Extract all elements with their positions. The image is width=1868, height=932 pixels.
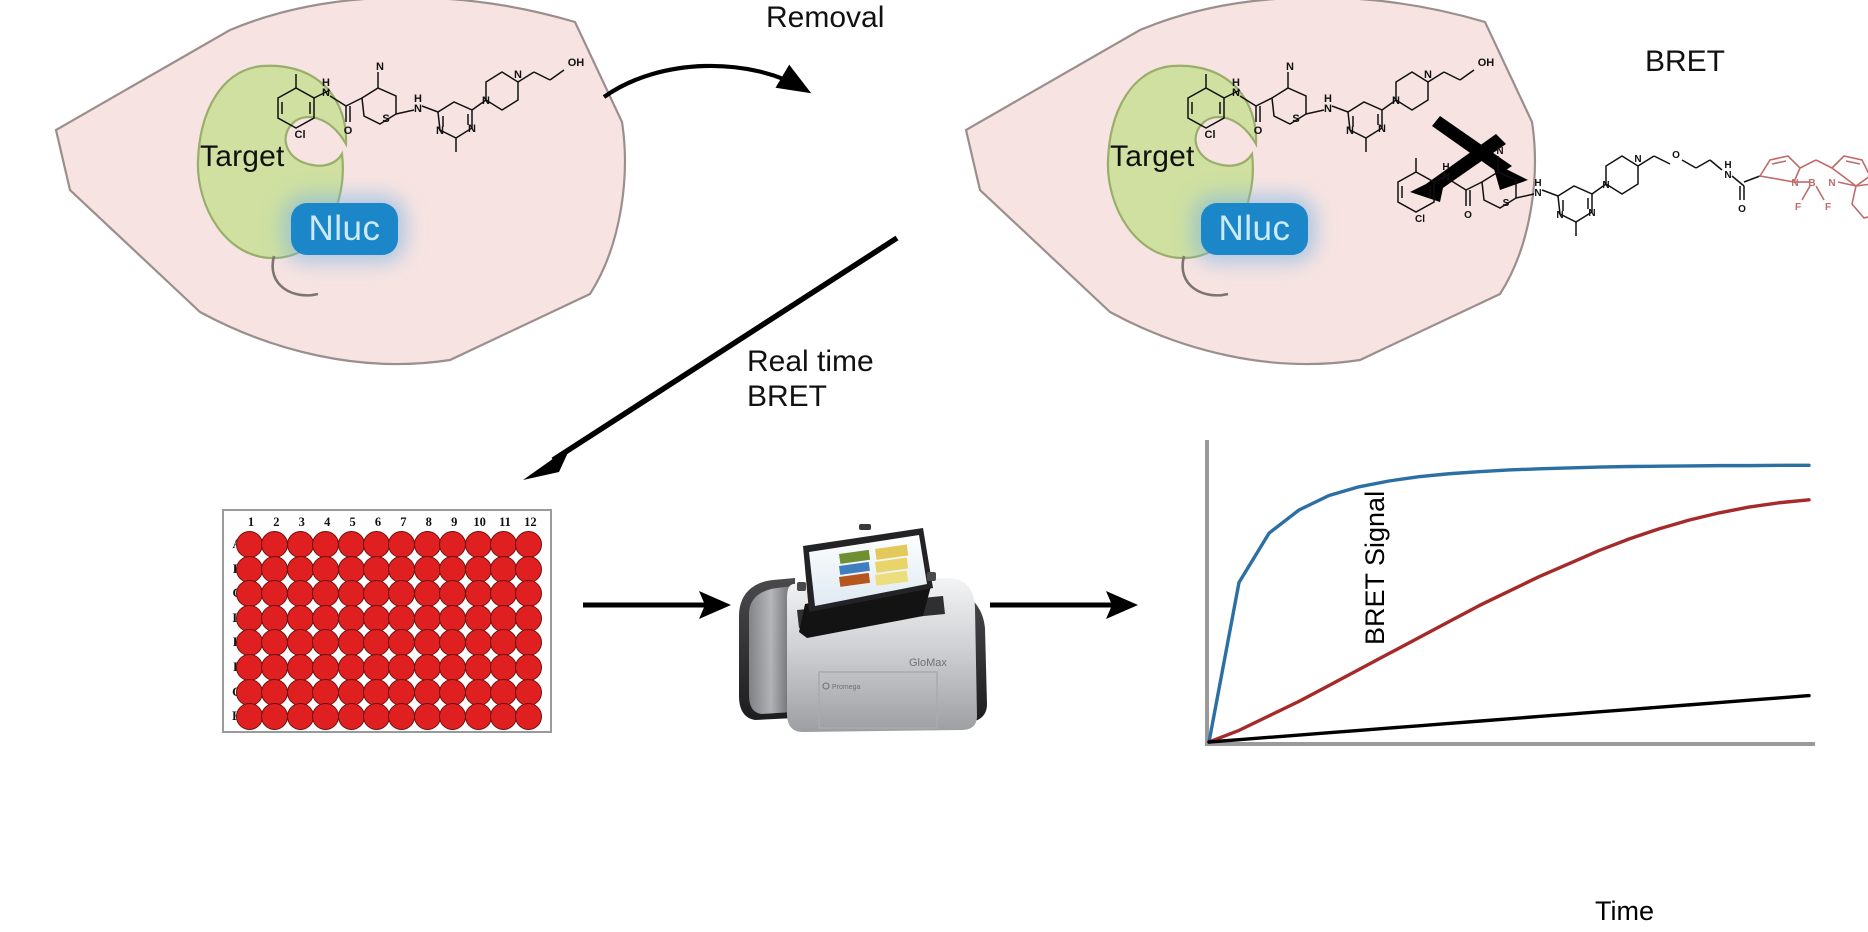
bret-label: BRET	[1645, 44, 1725, 79]
svg-text:O: O	[1672, 150, 1680, 161]
microplate-well-F7[interactable]	[388, 654, 415, 681]
microplate-well-F1[interactable]	[236, 654, 263, 681]
microplate-well-F12[interactable]	[515, 654, 542, 681]
svg-text:S: S	[1292, 113, 1299, 125]
microplate-well-E3[interactable]	[287, 629, 314, 656]
microplate-well-A1[interactable]	[236, 531, 263, 558]
svg-text:N: N	[1588, 208, 1595, 219]
microplate[interactable]: 123456789101112 ABCDEFGH	[222, 509, 552, 733]
svg-text:N: N	[468, 123, 476, 135]
microplate-col-3: 3	[291, 515, 313, 530]
svg-text:OH: OH	[1478, 57, 1495, 69]
svg-text:B: B	[1808, 178, 1815, 189]
microplate-well-A8[interactable]	[414, 531, 441, 558]
microplate-well-E9[interactable]	[439, 629, 466, 656]
microplate-well-G5[interactable]	[338, 679, 365, 706]
removal-arrow	[600, 55, 830, 125]
nanobret-tracer: HN ClO SN HN NN NN O HN O	[1380, 120, 1868, 250]
microplate-well-H7[interactable]	[388, 703, 415, 730]
microplate-well-C2[interactable]	[261, 580, 288, 607]
microplate-well-B7[interactable]	[388, 556, 415, 583]
microplate-well-H11[interactable]	[490, 703, 517, 730]
microplate-well-H5[interactable]	[338, 703, 365, 730]
plate-reader-instrument: GloMax Promega	[735, 520, 995, 740]
microplate-well-E2[interactable]	[261, 629, 288, 656]
microplate-col-6: 6	[367, 515, 389, 530]
microplate-well-F5[interactable]	[338, 654, 365, 681]
microplate-col-7: 7	[392, 515, 414, 530]
microplate-well-E6[interactable]	[363, 629, 390, 656]
microplate-well-D9[interactable]	[439, 605, 466, 632]
microplate-well-E7[interactable]	[388, 629, 415, 656]
microplate-well-D6[interactable]	[363, 605, 390, 632]
microplate-well-E11[interactable]	[490, 629, 517, 656]
microplate-well-H9[interactable]	[439, 703, 466, 730]
microplate-well-A11[interactable]	[490, 531, 517, 558]
instrument-model-label: GloMax	[909, 657, 947, 669]
microplate-well-A9[interactable]	[439, 531, 466, 558]
figure-canvas: H N Cl O S N H N N N N N OH Target Nluc …	[0, 0, 1868, 932]
chart-x-axis-label: Time	[1595, 896, 1654, 927]
microplate-well-G11[interactable]	[490, 679, 517, 706]
instrument-brand-label: Promega	[832, 684, 861, 691]
tracer-scaffold	[1398, 156, 1760, 236]
microplate-well-G1[interactable]	[236, 679, 263, 706]
microplate-well-A5[interactable]	[338, 531, 365, 558]
svg-text:N: N	[376, 61, 384, 73]
nluc-badge-left: Nluc	[291, 203, 398, 255]
microplate-well-A12[interactable]	[515, 531, 542, 558]
microplate-well-G7[interactable]	[388, 679, 415, 706]
microplate-well-D5[interactable]	[338, 605, 365, 632]
svg-text:N: N	[322, 87, 330, 99]
nluc-badge-right: Nluc	[1201, 203, 1308, 255]
microplate-well-H4[interactable]	[312, 703, 339, 730]
microplate-inner: 123456789101112 ABCDEFGH	[224, 511, 550, 731]
screen-hinge-left	[797, 582, 806, 591]
svg-text:N: N	[1232, 87, 1240, 99]
microplate-well-G8[interactable]	[414, 679, 441, 706]
microplate-col-2: 2	[265, 515, 287, 530]
microplate-col-9: 9	[443, 515, 465, 530]
microplate-well-D10[interactable]	[465, 605, 492, 632]
microplate-well-G2[interactable]	[261, 679, 288, 706]
microplate-well-C6[interactable]	[363, 580, 390, 607]
screen-hinge-right	[927, 572, 936, 581]
chart-y-axis-label: BRET Signal	[1360, 491, 1391, 645]
microplate-well-B6[interactable]	[363, 556, 390, 583]
tracer-scaffold-labels: HN ClO SN HN NN NN O HN O	[1415, 146, 1746, 225]
microplate-well-E10[interactable]	[465, 629, 492, 656]
microplate-well-D8[interactable]	[414, 605, 441, 632]
microplate-well-F4[interactable]	[312, 654, 339, 681]
chart-series-group	[1209, 465, 1809, 742]
svg-text:N: N	[1424, 69, 1432, 81]
svg-text:Cl: Cl	[1205, 129, 1216, 141]
microplate-col-5: 5	[342, 515, 364, 530]
microplate-col-12: 12	[519, 515, 541, 530]
microplate-well-A10[interactable]	[465, 531, 492, 558]
microplate-well-A6[interactable]	[363, 531, 390, 558]
microplate-col-1: 1	[240, 515, 262, 530]
chart-line-slow-on-tracer	[1209, 500, 1809, 742]
svg-text:Cl: Cl	[1415, 214, 1425, 225]
microplate-well-B11[interactable]	[490, 556, 517, 583]
svg-text:N: N	[482, 95, 490, 107]
svg-text:N: N	[1392, 95, 1400, 107]
microplate-well-D1[interactable]	[236, 605, 263, 632]
microplate-well-B12[interactable]	[515, 556, 542, 583]
microplate-well-H3[interactable]	[287, 703, 314, 730]
svg-text:F: F	[1825, 202, 1831, 213]
svg-text:N: N	[1602, 180, 1609, 191]
microplate-well-G12[interactable]	[515, 679, 542, 706]
microplate-well-E4[interactable]	[312, 629, 339, 656]
microplate-well-H1[interactable]	[236, 703, 263, 730]
microplate-col-4: 4	[316, 515, 338, 530]
target-label-left: Target	[200, 140, 285, 174]
microplate-well-G3[interactable]	[287, 679, 314, 706]
microplate-well-C12[interactable]	[515, 580, 542, 607]
microplate-well-B2[interactable]	[261, 556, 288, 583]
microplate-well-B9[interactable]	[439, 556, 466, 583]
svg-text:N: N	[514, 69, 522, 81]
microplate-well-G6[interactable]	[363, 679, 390, 706]
svg-text:N: N	[1556, 210, 1563, 221]
microplate-well-H8[interactable]	[414, 703, 441, 730]
microplate-well-B1[interactable]	[236, 556, 263, 583]
microplate-well-F8[interactable]	[414, 654, 441, 681]
microplate-well-H10[interactable]	[465, 703, 492, 730]
microplate-well-C11[interactable]	[490, 580, 517, 607]
microplate-well-C9[interactable]	[439, 580, 466, 607]
microplate-well-B4[interactable]	[312, 556, 339, 583]
microplate-well-G10[interactable]	[465, 679, 492, 706]
microplate-well-C1[interactable]	[236, 580, 263, 607]
svg-text:OH: OH	[568, 57, 585, 69]
bret-kinetics-chart	[1195, 430, 1855, 930]
microplate-well-C7[interactable]	[388, 580, 415, 607]
target-label-right: Target	[1110, 140, 1195, 174]
microplate-well-C8[interactable]	[414, 580, 441, 607]
real-time-bret-label: Real timeBRET	[747, 344, 874, 415]
microplate-well-H12[interactable]	[515, 703, 542, 730]
svg-text:N: N	[1496, 146, 1503, 157]
microplate-well-D12[interactable]	[515, 605, 542, 632]
svg-text:N: N	[436, 125, 444, 137]
microplate-well-F9[interactable]	[439, 654, 466, 681]
microplate-well-F6[interactable]	[363, 654, 390, 681]
microplate-well-D11[interactable]	[490, 605, 517, 632]
microplate-well-F3[interactable]	[287, 654, 314, 681]
removal-label: Removal	[766, 0, 884, 35]
svg-text:O: O	[1254, 125, 1263, 137]
microplate-well-E1[interactable]	[236, 629, 263, 656]
svg-text:S: S	[382, 113, 389, 125]
svg-text:N: N	[414, 103, 422, 115]
svg-text:O: O	[344, 125, 353, 137]
microplate-well-B8[interactable]	[414, 556, 441, 583]
microplate-well-C10[interactable]	[465, 580, 492, 607]
microplate-well-A3[interactable]	[287, 531, 314, 558]
microplate-well-C5[interactable]	[338, 580, 365, 607]
screen-hinge-top	[859, 524, 871, 530]
svg-text:N: N	[1534, 188, 1541, 199]
microplate-well-H6[interactable]	[363, 703, 390, 730]
reader-to-chart-arrow	[990, 585, 1140, 625]
microplate-col-8: 8	[418, 515, 440, 530]
microplate-well-B5[interactable]	[338, 556, 365, 583]
svg-text:S: S	[1503, 198, 1510, 209]
microplate-well-A2[interactable]	[261, 531, 288, 558]
microplate-well-C3[interactable]	[287, 580, 314, 607]
svg-text:N: N	[1724, 170, 1731, 181]
microplate-well-E12[interactable]	[515, 629, 542, 656]
svg-text:N: N	[1634, 154, 1641, 165]
microplate-well-D2[interactable]	[261, 605, 288, 632]
microplate-well-A7[interactable]	[388, 531, 415, 558]
svg-text:N: N	[1442, 172, 1449, 183]
microplate-well-G9[interactable]	[439, 679, 466, 706]
microplate-well-C4[interactable]	[312, 580, 339, 607]
microplate-col-11: 11	[494, 515, 516, 530]
bodipy-atom-labels: N B N F F NH	[1791, 178, 1868, 213]
microplate-well-E8[interactable]	[414, 629, 441, 656]
svg-text:N: N	[1286, 61, 1294, 73]
svg-text:F: F	[1795, 202, 1801, 213]
microplate-well-D7[interactable]	[388, 605, 415, 632]
svg-text:N: N	[1791, 178, 1798, 189]
microplate-well-F2[interactable]	[261, 654, 288, 681]
microplate-well-A4[interactable]	[312, 531, 339, 558]
svg-text:O: O	[1464, 210, 1472, 221]
microplate-well-D3[interactable]	[287, 605, 314, 632]
svg-text:Cl: Cl	[295, 129, 306, 141]
svg-text:N: N	[1324, 103, 1332, 115]
microplate-well-F11[interactable]	[490, 654, 517, 681]
microplate-col-10: 10	[469, 515, 491, 530]
svg-text:O: O	[1738, 204, 1746, 215]
microplate-well-H2[interactable]	[261, 703, 288, 730]
plate-to-reader-arrow	[583, 585, 733, 625]
svg-text:N: N	[1828, 178, 1835, 189]
svg-text:N: N	[1346, 125, 1354, 137]
microplate-well-F10[interactable]	[465, 654, 492, 681]
instrument-left-panel	[749, 586, 793, 714]
microplate-well-G4[interactable]	[312, 679, 339, 706]
microplate-well-E5[interactable]	[338, 629, 365, 656]
microplate-well-B10[interactable]	[465, 556, 492, 583]
microplate-well-B3[interactable]	[287, 556, 314, 583]
microplate-well-D4[interactable]	[312, 605, 339, 632]
